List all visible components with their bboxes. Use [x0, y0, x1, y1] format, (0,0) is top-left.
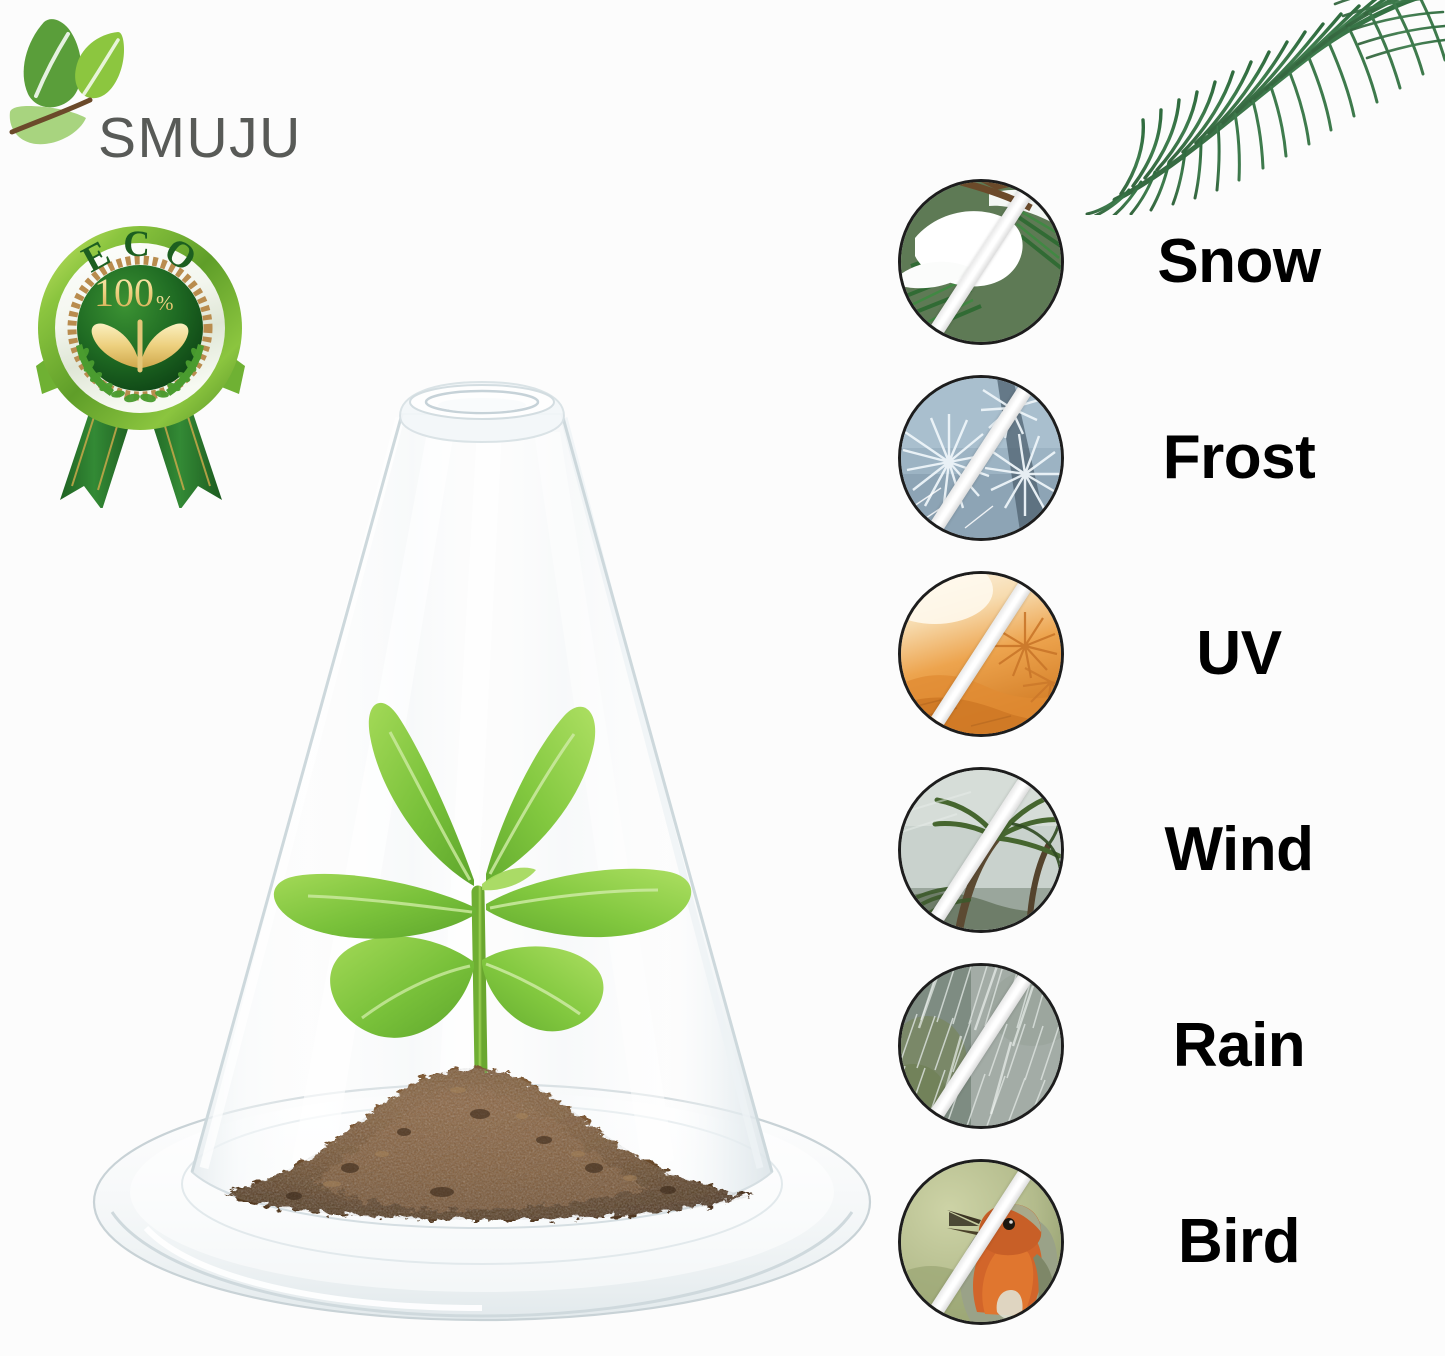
feature-row-wind: Wind	[898, 766, 1428, 934]
feature-row-frost: Frost	[898, 374, 1428, 542]
brand-name: SMUJU	[98, 110, 302, 167]
brand-logo: SMUJU	[6, 14, 356, 164]
feature-label-bird: Bird	[1064, 1211, 1428, 1273]
robin-bird-icon	[898, 1159, 1064, 1325]
feature-row-uv: UV	[898, 570, 1428, 738]
feature-label-frost: Frost	[1064, 427, 1428, 489]
snow-covered-branch-icon	[898, 179, 1064, 345]
feature-label-rain: Rain	[1064, 1015, 1428, 1077]
sun-glare-uv-icon	[898, 571, 1064, 737]
rain-streaks-icon	[898, 963, 1064, 1129]
product-marketing-canvas: SMUJU	[0, 0, 1445, 1356]
feature-label-wind: Wind	[1064, 819, 1428, 881]
feature-row-bird: Bird	[898, 1158, 1428, 1326]
feature-row-rain: Rain	[898, 962, 1428, 1130]
feature-label-snow: Snow	[1064, 231, 1428, 293]
feature-label-uv: UV	[1064, 623, 1428, 685]
protection-feature-list: Snow	[898, 178, 1428, 1348]
feature-row-snow: Snow	[898, 178, 1428, 346]
wind-blown-palm-icon	[898, 767, 1064, 933]
eco-badge-percent-symbol: %	[156, 291, 174, 315]
eco-badge-percent-value: 100	[94, 270, 154, 315]
plant-cloche-product-image	[82, 372, 882, 1334]
frosted-pine-needles-icon	[898, 375, 1064, 541]
